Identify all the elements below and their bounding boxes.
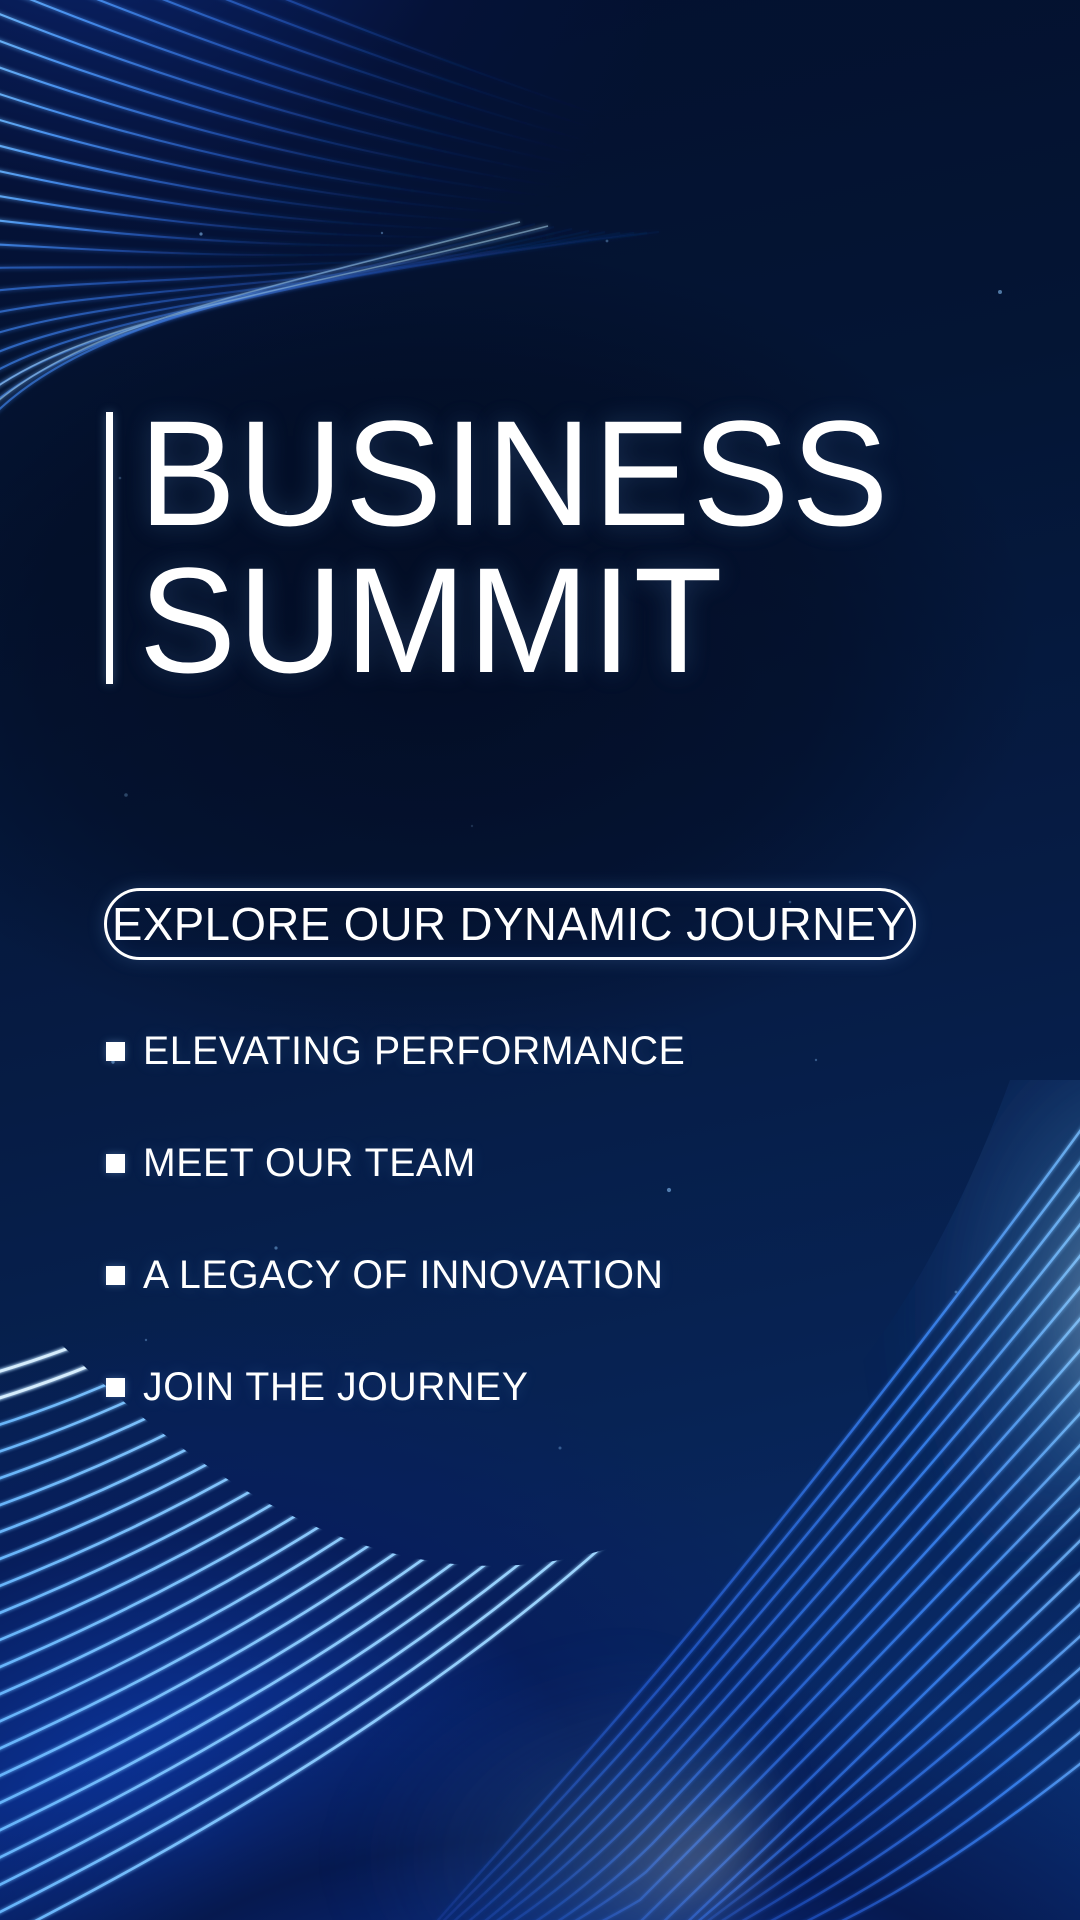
title-lines: BUSINESS SUMMIT xyxy=(139,400,914,694)
square-bullet-icon xyxy=(106,1266,125,1285)
list-item[interactable]: JOIN THE JOURNEY xyxy=(106,1348,886,1426)
list-item-label: A LEGACY OF INNOVATION xyxy=(143,1253,663,1298)
poster-canvas: BUSINESS SUMMIT EXPLORE OUR DYNAMIC JOUR… xyxy=(0,0,1080,1920)
title-line-2: SUMMIT xyxy=(139,547,890,694)
list-item-label: JOIN THE JOURNEY xyxy=(143,1365,528,1410)
list-item[interactable]: A LEGACY OF INNOVATION xyxy=(106,1236,886,1314)
page-title: BUSINESS SUMMIT xyxy=(106,400,914,694)
explore-journey-label: EXPLORE OUR DYNAMIC JOURNEY xyxy=(112,897,907,951)
list-item-label: MEET OUR TEAM xyxy=(143,1141,476,1186)
explore-journey-button[interactable]: EXPLORE OUR DYNAMIC JOURNEY xyxy=(104,888,916,960)
list-item[interactable]: ELEVATING PERFORMANCE xyxy=(106,1012,886,1090)
title-line-1: BUSINESS xyxy=(139,400,890,547)
title-accent-rule xyxy=(106,412,113,684)
list-item[interactable]: MEET OUR TEAM xyxy=(106,1124,886,1202)
agenda-list: ELEVATING PERFORMANCE MEET OUR TEAM A LE… xyxy=(106,1012,886,1460)
list-item-label: ELEVATING PERFORMANCE xyxy=(143,1029,685,1074)
square-bullet-icon xyxy=(106,1154,125,1173)
square-bullet-icon xyxy=(106,1378,125,1397)
square-bullet-icon xyxy=(106,1042,125,1061)
poster-content: BUSINESS SUMMIT EXPLORE OUR DYNAMIC JOUR… xyxy=(0,0,1080,1920)
